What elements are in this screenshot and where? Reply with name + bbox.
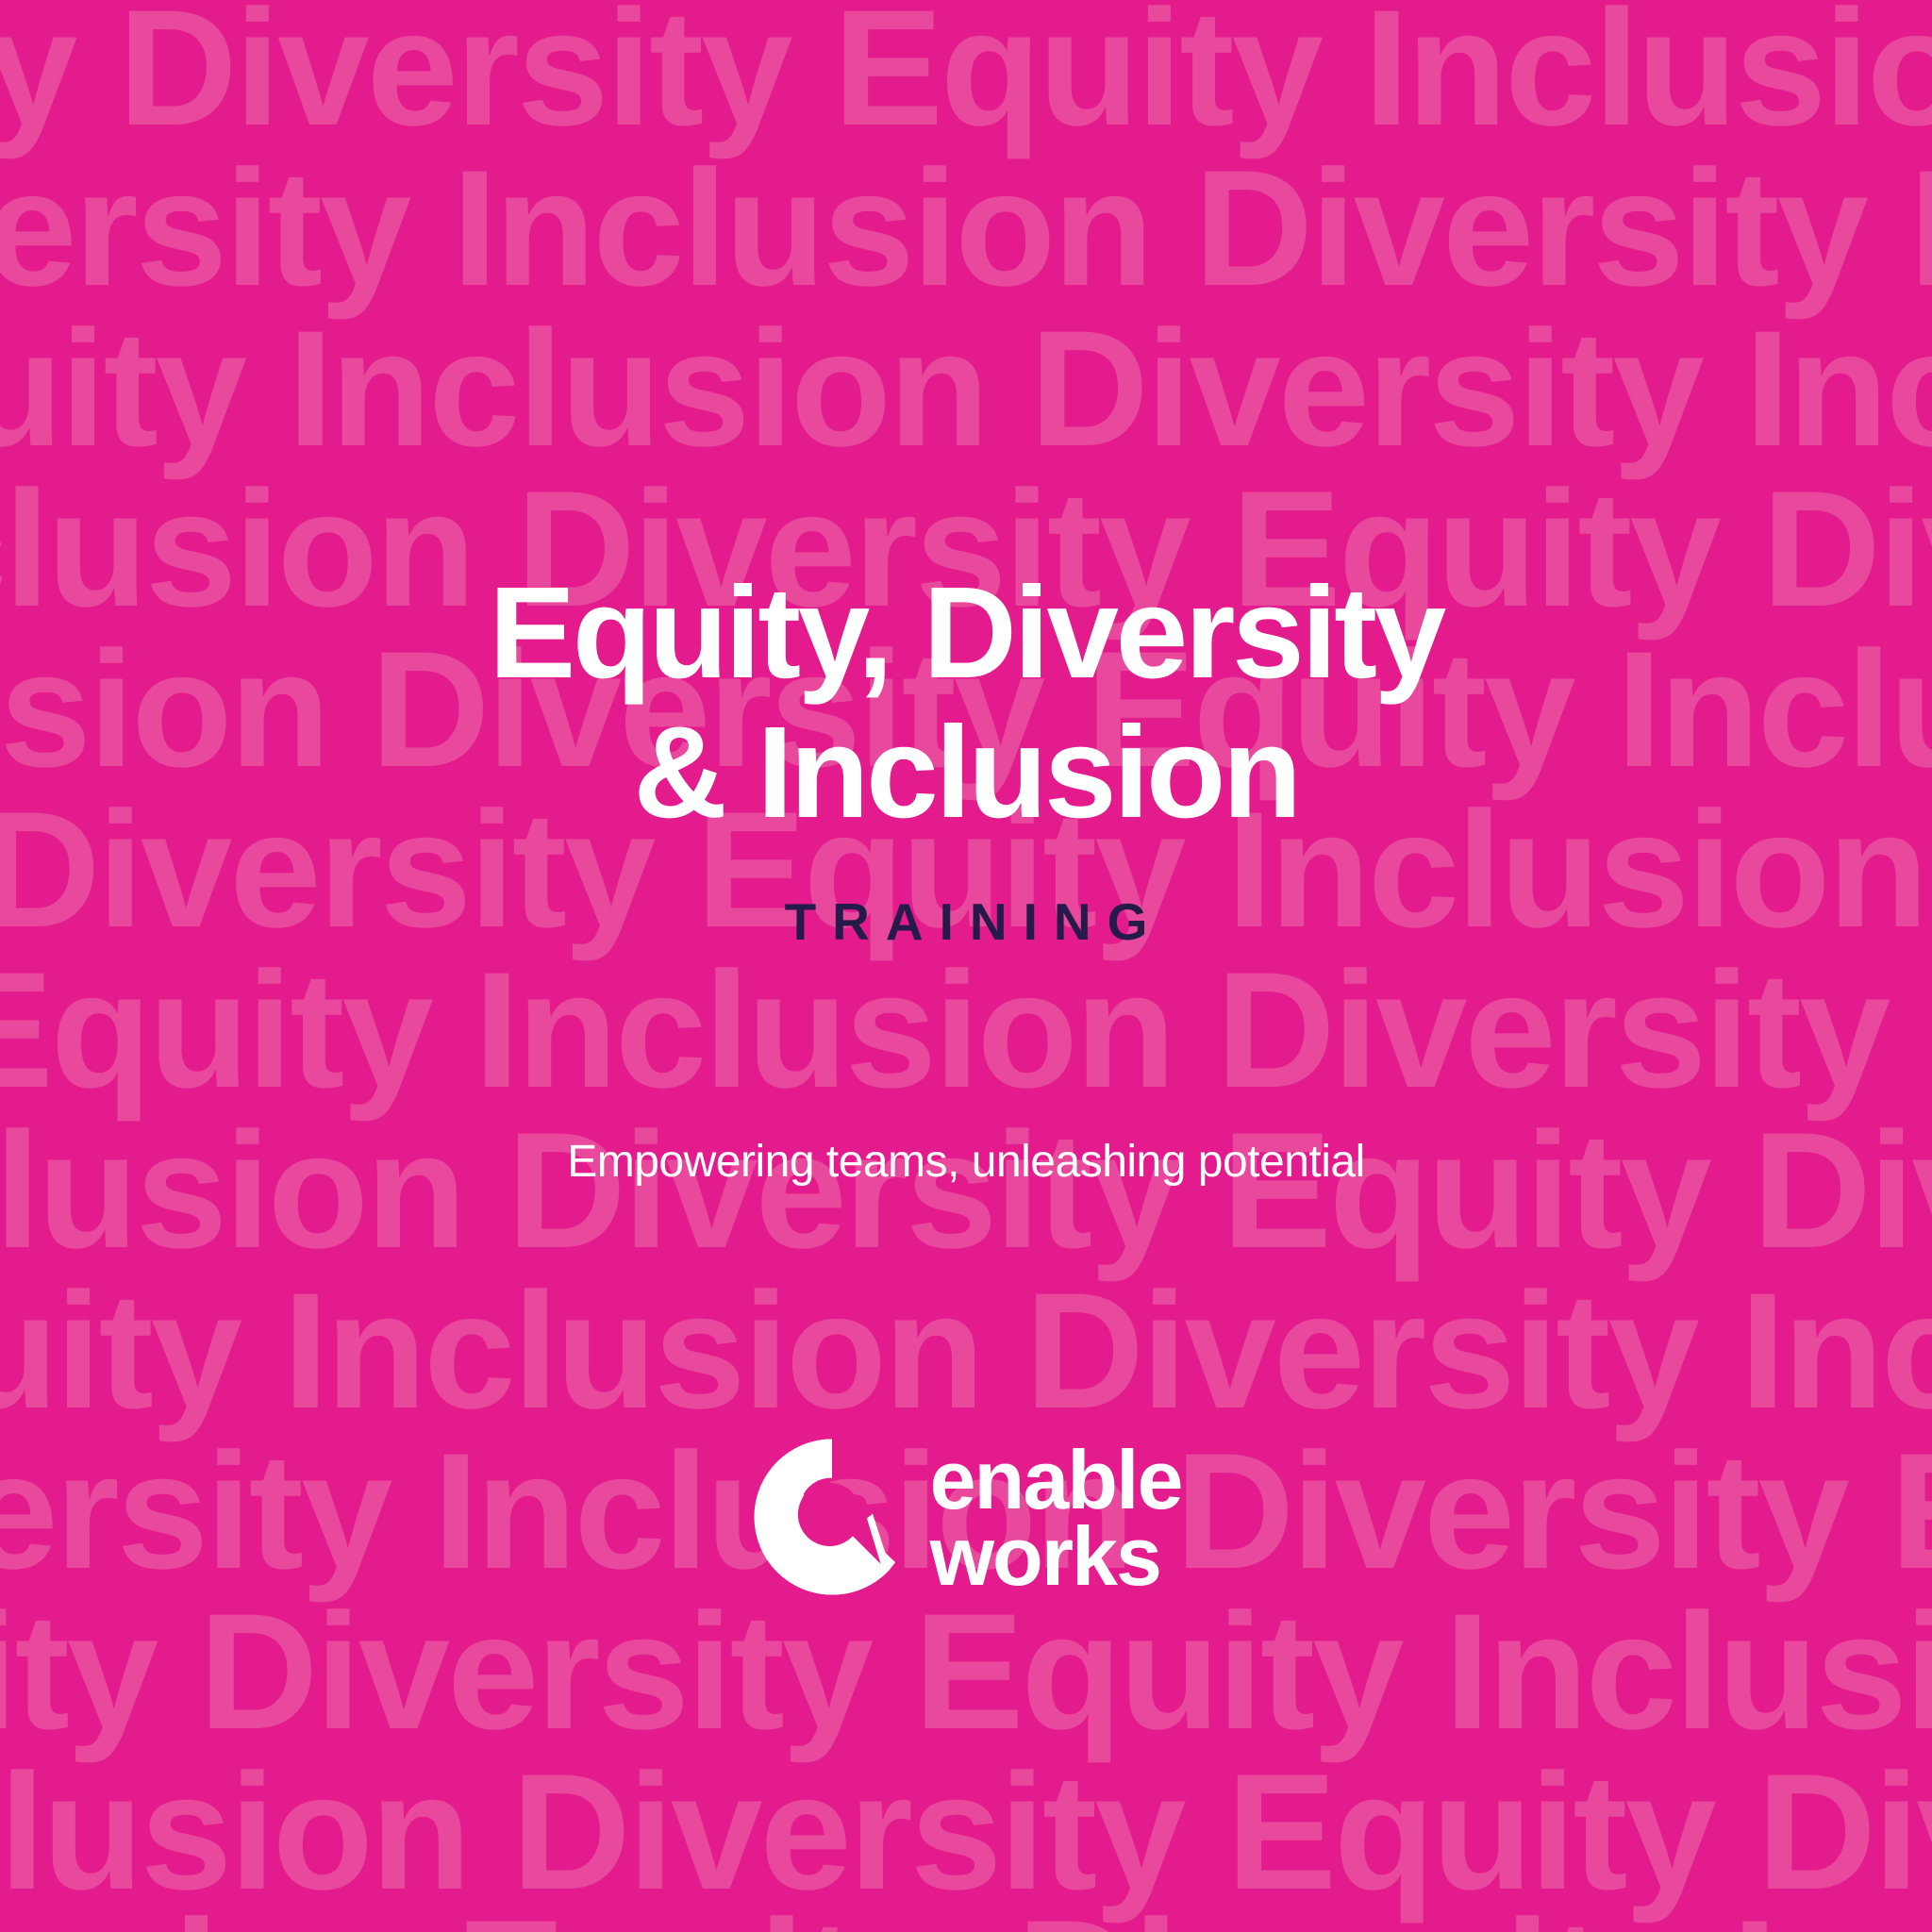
poster-content: Equity, Diversity & Inclusion TRAINING E… <box>0 0 1932 1932</box>
page-title: Equity, Diversity & Inclusion <box>0 564 1932 842</box>
subtitle-training: TRAINING <box>0 896 1932 948</box>
enable-works-q-mark-icon <box>751 1436 913 1598</box>
tagline: Empowering teams, unleashing potential <box>0 1140 1932 1185</box>
logo-word-enable: enable <box>930 1442 1182 1519</box>
logo-wordmark: enable works <box>930 1442 1182 1595</box>
title-line-1: Equity, Diversity <box>0 564 1932 704</box>
title-line-2: & Inclusion <box>0 704 1932 843</box>
poster-canvas: ty Diversity Equity Inclusion Diversity … <box>0 0 1932 1932</box>
logo-word-works: works <box>930 1519 1182 1595</box>
enable-works-logo: enable works <box>0 1436 1932 1598</box>
